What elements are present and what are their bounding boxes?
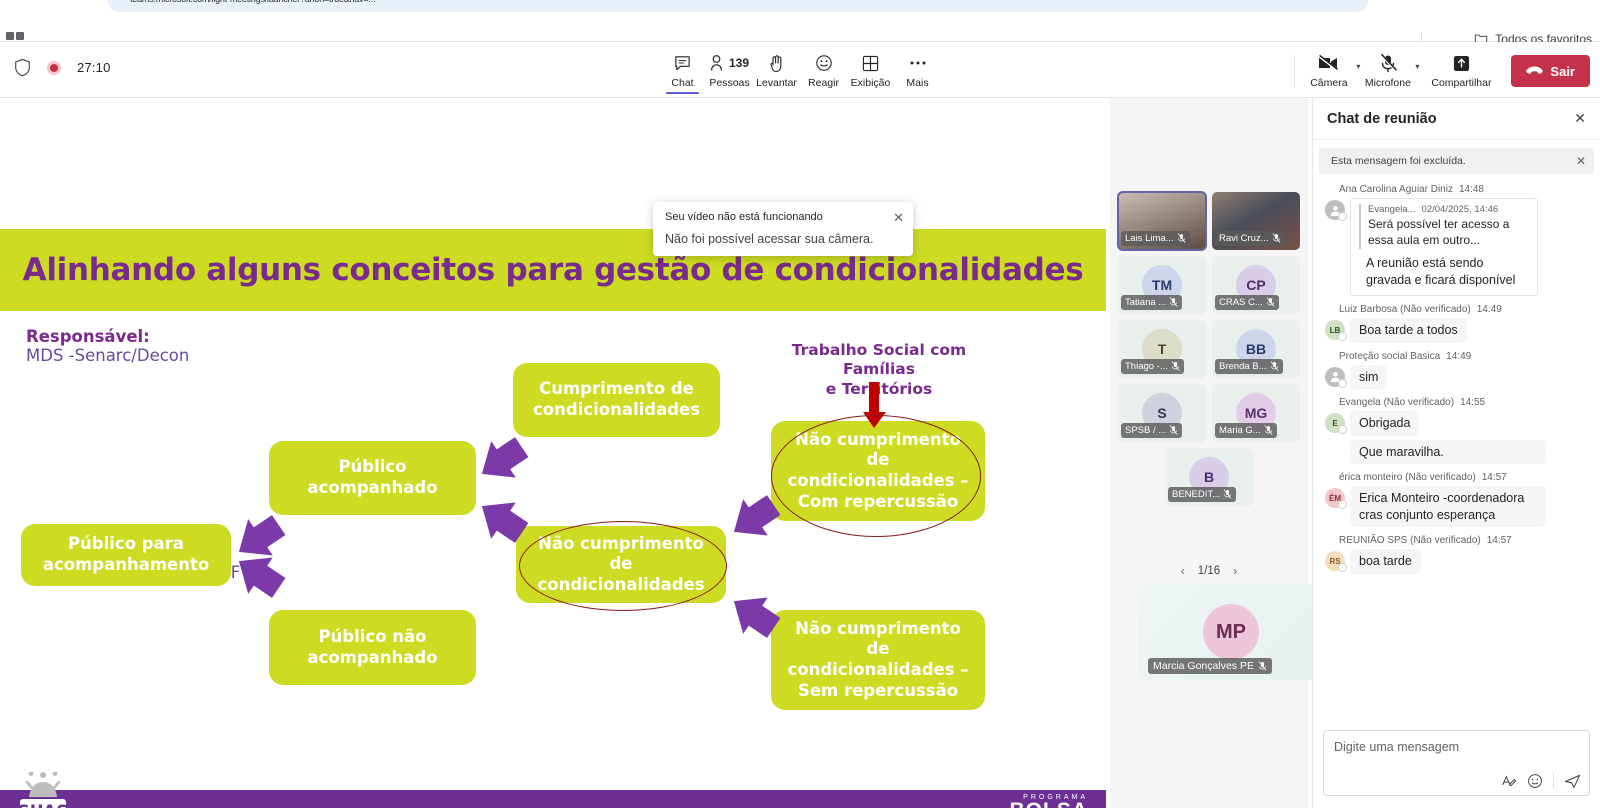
leave-label: Sair — [1550, 64, 1575, 79]
participant-name-chip: Ravi Cruz... — [1215, 231, 1285, 246]
spotlight-tile[interactable]: MP Marcia Gonçalves PE — [1138, 584, 1324, 680]
message-time: 14:55 — [1460, 397, 1485, 408]
message-author: Evangela (Não verificado) — [1339, 397, 1454, 408]
chat-message-group: Proteção social Basica14:49sim — [1325, 351, 1592, 390]
participant-tile-row: TMTatiana ...CPCRAS C... — [1114, 256, 1304, 314]
participant-rail: Lais Lima...Ravi Cruz...TMTatiana ...CPC… — [1110, 98, 1308, 808]
participant-name-chip: Tatiana ... — [1121, 295, 1182, 310]
chevron-left-icon[interactable]: ‹ — [1181, 564, 1185, 578]
mic-muted-icon — [1270, 361, 1279, 372]
toolbar-react-button[interactable]: Reagir — [800, 47, 847, 91]
meeting-toolbar: 27:10 Chat 139 — [0, 42, 1600, 98]
message-text: boa tarde — [1350, 549, 1421, 574]
browser-address-bar: teams.microsoft.com/light-meetings/launc… — [0, 0, 1600, 13]
quoted-message[interactable]: Evangela...02/04/2025, 14:46Será possíve… — [1350, 198, 1538, 296]
participant-tile-row: TThiago -...BBBrenda B... — [1114, 320, 1304, 378]
participant-name: BENEDIT... — [1172, 489, 1220, 500]
message-author: REUNIÃO SPS (Não verificado) — [1339, 535, 1481, 546]
participant-name: Lais Lima... — [1125, 233, 1174, 244]
message-time: 14:49 — [1477, 304, 1502, 315]
chat-message-group: Luiz Barbosa (Não verificado)14:49LBBoa … — [1325, 304, 1592, 343]
slide-footer-band — [0, 790, 1106, 808]
mic-muted-icon — [1272, 233, 1281, 244]
toast-body: Não foi possível acessar sua câmera. — [665, 232, 901, 246]
participant-name-chip: Lais Lima... — [1121, 231, 1190, 246]
toolbar-people-label: Pessoas — [709, 77, 749, 89]
participant-tile[interactable]: SSPSB / ... — [1118, 384, 1206, 442]
chat-header: Chat de reunião ✕ — [1313, 98, 1600, 140]
toolbar-react-label: Reagir — [808, 77, 839, 89]
active-tab-underline — [666, 92, 699, 94]
message-meta: Proteção social Basica14:49 — [1339, 351, 1592, 362]
mic-chevron-down-icon[interactable]: ▾ — [1411, 47, 1423, 71]
participant-name: Thiago -... — [1125, 361, 1168, 372]
mic-muted-icon — [1258, 661, 1267, 672]
people-icon: 139 — [710, 52, 749, 74]
toolbar-left-group: 27:10 — [14, 58, 111, 77]
mic-muted-icon — [1171, 361, 1180, 372]
toolbar-right-group: Câmera ▾ Microfone ▾ — [1288, 47, 1590, 91]
avatar: MP — [1203, 604, 1259, 660]
mic-muted-icon — [1177, 233, 1186, 244]
chat-compose-box[interactable]: Digite uma mensagem — [1323, 730, 1590, 796]
toolbar-share-label: Compartilhar — [1431, 77, 1491, 89]
avatar: E — [1325, 413, 1345, 433]
message-author: Proteção social Basica — [1339, 351, 1440, 362]
participant-name-chip: Brenda B... — [1215, 359, 1283, 374]
participant-tile-row: BBENEDIT... — [1114, 448, 1304, 506]
participant-name-chip: BENEDIT... — [1168, 487, 1236, 502]
toolbar-center-group: Chat 139 Pessoas — [659, 47, 941, 91]
participant-tile[interactable]: BBENEDIT... — [1165, 448, 1253, 506]
video-error-toast: Seu vídeo não está funcionando Não foi p… — [653, 202, 913, 256]
avatar: LB — [1325, 320, 1345, 340]
message-meta: Evangela (Não verificado)14:55 — [1339, 397, 1592, 408]
participant-tile[interactable]: Ravi Cruz... — [1212, 192, 1300, 250]
avatar: RS — [1325, 551, 1345, 571]
toolbar-camera-button[interactable]: Câmera — [1305, 47, 1352, 91]
deleted-message-notice: Esta mensagem foi excluída. ✕ — [1319, 148, 1594, 174]
participant-name-chip: Maria G... — [1215, 423, 1277, 438]
participant-tile[interactable]: BBBrenda B... — [1212, 320, 1300, 378]
participant-tiles: Lais Lima...Ravi Cruz...TMTatiana ...CPC… — [1114, 192, 1304, 512]
participant-name: Ravi Cruz... — [1219, 233, 1269, 244]
participant-name-chip: SPSB / ... — [1121, 423, 1182, 438]
bolsa-familia-logo: PROGRAMA BOLSA família — [1010, 794, 1089, 808]
chat-title: Chat de reunião — [1327, 111, 1437, 127]
mic-off-icon — [1378, 52, 1398, 74]
participant-name: Brenda B... — [1219, 361, 1267, 372]
mic-muted-icon — [1223, 489, 1232, 500]
camera-chevron-down-icon[interactable]: ▾ — [1352, 47, 1364, 71]
quote-time: 02/04/2025, 14:46 — [1422, 204, 1499, 215]
compose-toolbar — [1501, 773, 1581, 789]
send-icon[interactable] — [1564, 774, 1581, 789]
message-author: Luiz Barbosa (Não verificado) — [1339, 304, 1471, 315]
mic-muted-icon — [1266, 297, 1275, 308]
shared-slide: Alinhando alguns conceitos para gestão d… — [0, 229, 1106, 808]
message-time: 14:57 — [1482, 472, 1507, 483]
toolbar-camera-label: Câmera — [1310, 77, 1347, 89]
message-meta: Ana Carolina Aguiar Diniz14:48 — [1339, 184, 1592, 195]
message-meta: REUNIÃO SPS (Não verificado)14:57 — [1339, 535, 1592, 546]
mic-muted-icon — [1169, 425, 1178, 436]
toast-title: Seu vídeo não está funcionando — [665, 211, 901, 223]
toolbar-chat-label: Chat — [671, 77, 693, 89]
message-meta: érica monteiro (Não verificado)14:57 — [1339, 472, 1592, 483]
chevron-right-icon[interactable]: › — [1233, 564, 1237, 578]
bookmarks-bar: Todos os favoritos — [0, 13, 1600, 42]
participant-name: SPSB / ... — [1125, 425, 1166, 436]
spotlight-name: Marcia Gonçalves PE — [1153, 660, 1254, 672]
rail-pager: ‹ 1/16 › — [1110, 564, 1308, 578]
shield-icon[interactable] — [14, 58, 31, 77]
chat-message: ÉMErica Monteiro -coordenadora cras conj… — [1325, 486, 1592, 527]
people-count: 139 — [729, 56, 749, 70]
message-text: sim — [1350, 365, 1387, 390]
mic-muted-icon — [1264, 425, 1273, 436]
chat-message-group: REUNIÃO SPS (Não verificado)14:57RSboa t… — [1325, 535, 1592, 574]
spotlight-name-chip: Marcia Gonçalves PE — [1148, 658, 1272, 674]
chat-message-group: érica monteiro (Não verificado)14:57ÉMEr… — [1325, 472, 1592, 527]
meeting-chat-panel: Chat de reunião ✕ Esta mensagem foi excl… — [1312, 98, 1600, 808]
chat-message: RSboa tarde — [1325, 549, 1592, 574]
toolbar-view-button[interactable]: Exibição — [847, 47, 894, 91]
participant-tile[interactable]: MGMaria G... — [1212, 384, 1300, 442]
chat-message: LBBoa tarde a todos — [1325, 318, 1592, 343]
participant-tile[interactable]: TMTatiana ... — [1118, 256, 1206, 314]
layout-grid-icon — [862, 52, 879, 74]
participant-name: Maria G... — [1219, 425, 1261, 436]
chat-message-list[interactable]: Ana Carolina Aguiar Diniz14:48Evangela..… — [1313, 176, 1600, 724]
chat-message: Evangela...02/04/2025, 14:46Será possíve… — [1325, 198, 1592, 296]
message-time: 14:49 — [1446, 351, 1471, 362]
toolbar-divider — [1294, 55, 1295, 87]
toolbar-view-label: Exibição — [851, 77, 891, 89]
toolbar-mic-label: Microfone — [1365, 77, 1411, 89]
person-avatar-icon — [1325, 367, 1345, 387]
toolbar-raisehand-button[interactable]: Levantar — [753, 47, 800, 91]
raise-hand-icon — [769, 52, 785, 74]
close-icon[interactable]: ✕ — [1574, 110, 1586, 127]
participant-name: Tatiana ... — [1125, 297, 1166, 308]
record-dot-icon — [47, 61, 61, 75]
hangup-icon — [1526, 65, 1543, 77]
toolbar-more-button[interactable]: Mais — [894, 47, 941, 91]
message-author: érica monteiro (Não verificado) — [1339, 472, 1476, 483]
toolbar-chat-button[interactable]: Chat — [659, 47, 706, 91]
toolbar-raisehand-label: Levantar — [756, 77, 797, 89]
message-time: 14:57 — [1487, 535, 1512, 546]
svg-text:SUAS: SUAS — [18, 802, 69, 808]
toolbar-share-button[interactable]: Compartilhar — [1423, 47, 1499, 91]
participant-tile-row: SSPSB / ...MGMaria G... — [1114, 384, 1304, 442]
url-text[interactable]: teams.microsoft.com/light-meetings/launc… — [108, 0, 1368, 12]
message-text: Erica Monteiro -coordenadora cras conjun… — [1350, 486, 1546, 527]
compose-divider — [1553, 773, 1554, 789]
message-text: Boa tarde a todos — [1350, 318, 1467, 343]
smiley-reaction-icon — [815, 52, 833, 74]
emoji-icon[interactable] — [1527, 773, 1543, 789]
message-text: Que maravilha. — [1350, 440, 1546, 465]
chat-bubble-icon — [673, 52, 692, 74]
share-screen-icon — [1453, 52, 1470, 74]
pager-label: 1/16 — [1198, 565, 1220, 577]
close-icon[interactable]: ✕ — [893, 211, 904, 224]
message-time: 14:48 — [1459, 184, 1484, 195]
message-meta: Luiz Barbosa (Não verificado)14:49 — [1339, 304, 1592, 315]
toolbar-more-label: Mais — [906, 77, 928, 89]
message-text: Obrigada — [1350, 411, 1419, 436]
quote-meta: Evangela...02/04/2025, 14:46 — [1368, 204, 1529, 215]
avatar: ÉM — [1325, 488, 1345, 508]
mic-muted-icon — [1169, 297, 1178, 308]
participant-name: CRAS C... — [1219, 297, 1263, 308]
participant-tile[interactable]: CPCRAS C... — [1212, 256, 1300, 314]
meeting-timer: 27:10 — [77, 60, 111, 75]
person-avatar-icon — [1325, 200, 1345, 220]
leave-meeting-button[interactable]: Sair — [1511, 55, 1590, 87]
quote-author: Evangela... — [1368, 204, 1416, 215]
format-text-icon[interactable] — [1501, 774, 1517, 788]
toolbar-people-button[interactable]: 139 Pessoas — [706, 47, 753, 91]
message-text: A reunião está sendo gravada e ficará di… — [1359, 249, 1529, 291]
notice-text: Esta mensagem foi excluída. — [1331, 155, 1466, 167]
participant-name-chip: CRAS C... — [1215, 295, 1279, 310]
close-icon[interactable]: ✕ — [1576, 154, 1586, 168]
participant-tile[interactable]: TThiago -... — [1118, 320, 1206, 378]
message-author: Ana Carolina Aguiar Diniz — [1339, 184, 1453, 195]
quote-text: Será possível ter acesso a essa aula em … — [1368, 217, 1529, 249]
participant-name-chip: Thiago -... — [1121, 359, 1184, 374]
chat-input-placeholder: Digite uma mensagem — [1334, 740, 1459, 754]
participant-tile[interactable]: Lais Lima... — [1118, 192, 1206, 250]
teams-meeting-window: teams.microsoft.com/light-meetings/launc… — [0, 0, 1600, 808]
participant-tile-row: Lais Lima...Ravi Cruz... — [1114, 192, 1304, 250]
chat-message-group: Ana Carolina Aguiar Diniz14:48Evangela..… — [1325, 184, 1592, 296]
chat-message: sim — [1325, 365, 1592, 390]
toolbar-mic-button[interactable]: Microfone — [1364, 47, 1411, 91]
ellipsis-icon — [909, 52, 927, 74]
suas-logo: SUAS Sistema Único de Assistência Social — [14, 772, 72, 808]
camera-off-icon — [1317, 52, 1341, 74]
message-body: Evangela...02/04/2025, 14:46Será possíve… — [1350, 198, 1538, 296]
chat-message-group: Evangela (Não verificado)14:55EObrigadaQ… — [1325, 397, 1592, 464]
flow-arrows — [0, 229, 1106, 808]
chat-message: EObrigada — [1325, 411, 1592, 436]
bolsa-main-label: BOLSA — [1010, 801, 1089, 808]
